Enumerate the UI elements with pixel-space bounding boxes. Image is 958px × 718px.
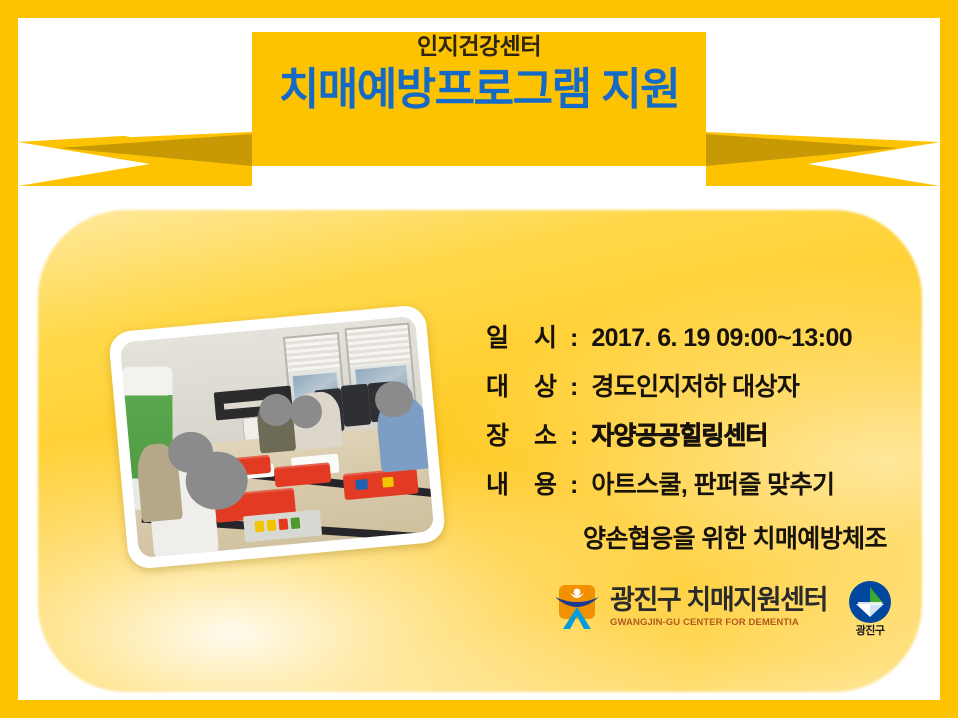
info-value-content: 아트스쿨, 판퍼즐 맞추기 <box>591 465 834 501</box>
photo-peg <box>255 521 265 533</box>
photo-blind-icon <box>347 325 411 367</box>
info-row-content: 내 용 : 아트스쿨, 판퍼즐 맞추기 <box>486 465 906 501</box>
info-row-date: 일 시 : 2017. 6. 19 09:00~13:00 <box>486 318 906 354</box>
info-colon: : <box>570 324 591 353</box>
info-colon: : <box>570 422 591 451</box>
logo-row: 광진구 치매지원센터 GWANGJIN-GU CENTER FOR DEMENT… <box>553 580 895 634</box>
photo-image <box>120 316 434 558</box>
poster-root: 인지건강센터 치매예방프로그램 지원 <box>0 0 958 718</box>
gwangjin-gu-emblem: 광진구 <box>845 580 895 634</box>
info-block: 일 시 : 2017. 6. 19 09:00~13:00 대 상 : 경도인지… <box>486 318 906 555</box>
ribbon-banner: 인지건강센터 치매예방프로그램 지원 <box>0 18 958 188</box>
logo-text-group: 광진구 치매지원센터 GWANGJIN-GU CENTER FOR DEMENT… <box>610 587 827 628</box>
ribbon-center <box>252 32 706 166</box>
photo-peg <box>382 476 395 488</box>
dementia-center-logo-icon <box>553 583 601 631</box>
info-row-place: 장 소 : 자양공공힐링센터 <box>486 416 906 452</box>
photo-peg <box>279 518 289 530</box>
info-label-place: 장 소 <box>486 416 570 452</box>
logo-english-name: GWANGJIN-GU CENTER FOR DEMENTIA <box>610 618 827 628</box>
info-label-date: 일 시 <box>486 318 570 354</box>
gu-emblem-icon <box>848 580 892 624</box>
info-label-target: 대 상 <box>486 367 570 403</box>
photo-chair <box>341 383 371 426</box>
info-colon: : <box>570 471 591 500</box>
info-colon: : <box>570 373 591 402</box>
activity-photo <box>108 304 446 570</box>
info-value-date: 2017. 6. 19 09:00~13:00 <box>591 324 852 353</box>
gu-emblem-label: 광진구 <box>856 622 885 638</box>
info-label-content: 내 용 <box>486 465 570 501</box>
photo-blind-icon <box>285 334 340 373</box>
photo-white-frame <box>108 304 446 570</box>
info-row-target: 대 상 : 경도인지저하 대상자 <box>486 367 906 403</box>
photo-peg <box>267 520 277 532</box>
photo-peg <box>355 479 368 491</box>
info-value-place: 자양공공힐링센터 <box>591 416 767 452</box>
info-value-target: 경도인지저하 대상자 <box>591 367 799 403</box>
photo-peg <box>290 517 300 529</box>
logo-korean-name: 광진구 치매지원센터 <box>610 587 827 614</box>
info-content-continuation: 양손협응을 위한 치매예방체조 <box>583 519 906 555</box>
